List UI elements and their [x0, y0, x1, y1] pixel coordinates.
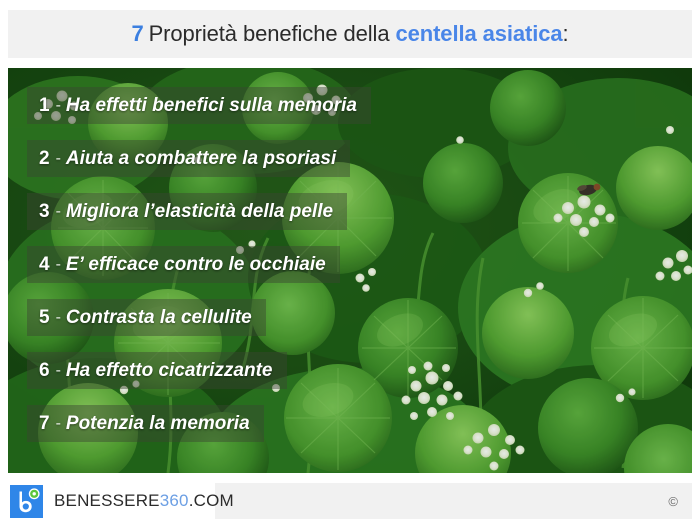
page-title: 7 Proprietà benefiche della centella asi… — [8, 10, 692, 58]
title-count: 7 — [131, 21, 143, 47]
benefit-dash: - — [56, 309, 61, 327]
benefit-bar: 3 - Migliora l’elasticità della pelle — [27, 193, 347, 230]
benefit-text: Migliora l’elasticità della pelle — [66, 201, 333, 223]
benefit-bar: 7 - Potenzia la memoria — [27, 405, 264, 442]
title-colon: : — [563, 21, 569, 47]
brand-name: BENESSERE360.COM — [54, 491, 234, 511]
benefit-number: 1 — [39, 95, 50, 117]
benefit-bar: 6 - Ha effetto cicatrizzante — [27, 352, 287, 389]
benefit-text: Aiuta a combattere la psoriasi — [66, 148, 336, 170]
brand-name-suffix: .COM — [189, 491, 234, 510]
benefit-bar: 2 - Aiuta a combattere la psoriasi — [27, 140, 350, 177]
list-item: 6 - Ha effetto cicatrizzante — [27, 352, 692, 405]
benefit-text: Potenzia la memoria — [66, 413, 250, 435]
benefit-dash: - — [56, 256, 61, 274]
copyright-symbol: © — [668, 483, 678, 519]
benefit-dash: - — [56, 415, 61, 433]
title-text: Proprietà benefiche della — [149, 21, 390, 47]
header-band: 7 Proprietà benefiche della centella asi… — [8, 10, 692, 58]
benefit-number: 7 — [39, 413, 50, 435]
list-item: 1 - Ha effetti benefici sulla memoria — [27, 87, 692, 140]
benefit-bar: 4 - E’ efficace contro le occhiaie — [27, 246, 340, 283]
title-species: centella asiatica — [395, 21, 562, 47]
benefit-text: Ha effetti benefici sulla memoria — [66, 95, 357, 117]
list-item: 2 - Aiuta a combattere la psoriasi — [27, 140, 692, 193]
benefit-dash: - — [56, 362, 61, 380]
benefit-text: E’ efficace contro le occhiaie — [66, 254, 326, 276]
benefit-dash: - — [56, 203, 61, 221]
benefit-dash: - — [56, 97, 61, 115]
benefit-dash: - — [56, 150, 61, 168]
benefit-text: Contrasta la cellulite — [66, 307, 252, 329]
benefit-number: 6 — [39, 360, 50, 382]
benefit-number: 3 — [39, 201, 50, 223]
brand-box[interactable]: BENESSERE360.COM — [8, 483, 215, 519]
brand-name-primary: BENESSERE — [54, 491, 160, 510]
benefit-number: 4 — [39, 254, 50, 276]
benefit-bar: 1 - Ha effetti benefici sulla memoria — [27, 87, 371, 124]
list-item: 4 - E’ efficace contro le occhiaie — [27, 246, 692, 299]
list-item: 3 - Migliora l’elasticità della pelle — [27, 193, 692, 246]
benessere360-logo-icon — [10, 485, 43, 518]
list-item: 7 - Potenzia la memoria — [27, 405, 692, 458]
benefit-text: Ha effetto cicatrizzante — [66, 360, 273, 382]
benefit-bar: 5 - Contrasta la cellulite — [27, 299, 266, 336]
benefit-number: 5 — [39, 307, 50, 329]
brand-name-accent: 360 — [160, 491, 189, 510]
benefit-list: 1 - Ha effetti benefici sulla memoria 2 … — [8, 68, 692, 473]
infographic-root: 7 Proprietà benefiche della centella asi… — [0, 0, 700, 525]
list-item: 5 - Contrasta la cellulite — [27, 299, 692, 352]
benefit-number: 2 — [39, 148, 50, 170]
